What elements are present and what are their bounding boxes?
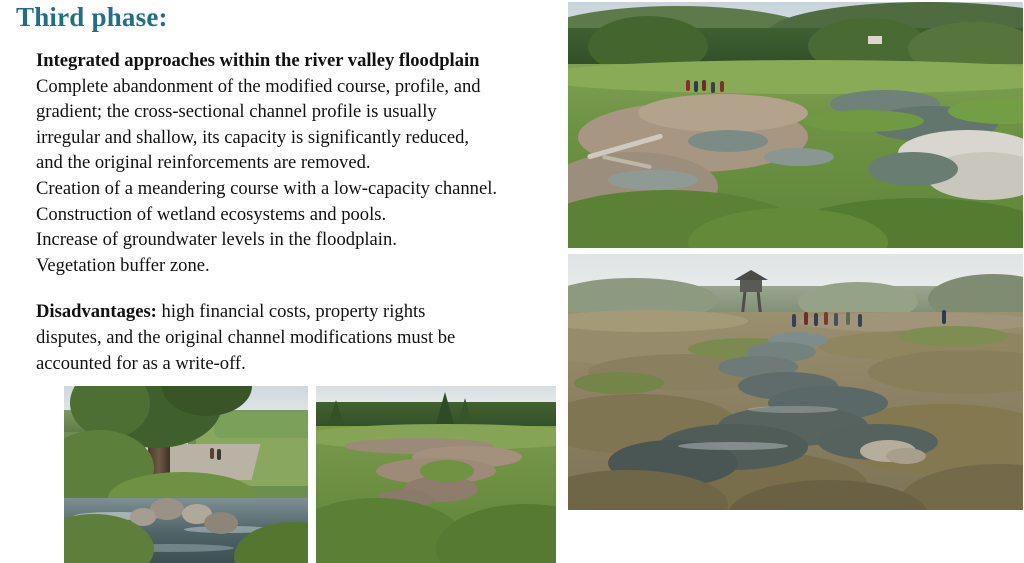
- disadvantages-line-2: disputes, and the original channel modif…: [36, 325, 556, 351]
- water-highlight-1: [678, 442, 788, 450]
- photo-stream-with-tree: [64, 386, 308, 563]
- person-4: [824, 312, 828, 325]
- person-5: [834, 313, 838, 326]
- pedestrian-2: [217, 449, 221, 460]
- person-1: [792, 314, 796, 327]
- pool-1: [688, 130, 768, 152]
- body-line-5: Creation of a meandering course with a l…: [36, 176, 556, 202]
- body-line-7: Increase of groundwater levels in the fl…: [36, 227, 556, 253]
- background-field-strip: [214, 412, 308, 438]
- person-1: [686, 80, 690, 91]
- body-line-6: Construction of wetland ecosystems and p…: [36, 202, 556, 228]
- disadvantages-line-3: accounted for as a write-off.: [36, 351, 556, 377]
- left-content-column: Third phase: Integrated approaches withi…: [0, 0, 560, 563]
- person-3: [702, 80, 706, 91]
- water-highlight-2: [748, 406, 838, 413]
- lead-paragraph: Integrated approaches within the river v…: [36, 48, 556, 74]
- person-5: [720, 81, 724, 92]
- body-line-1: Complete abandonment of the modified cou…: [36, 74, 556, 100]
- person-2: [694, 81, 698, 92]
- green-strip-1: [804, 110, 924, 132]
- person-3: [814, 313, 818, 326]
- pool-3: [608, 170, 698, 190]
- person-6: [846, 312, 850, 325]
- stream-lower: [868, 152, 958, 186]
- boulder-3: [204, 512, 238, 534]
- photo-wetland-tower: [568, 254, 1023, 510]
- conifer-3: [328, 400, 344, 426]
- disadvantages-text-1: high financial costs, property rights: [157, 301, 426, 322]
- page-title: Third phase:: [16, 2, 168, 33]
- body-text-block: Integrated approaches within the river v…: [36, 48, 556, 376]
- person-2: [804, 312, 808, 325]
- pedestrian-1: [210, 448, 214, 459]
- rock-in-channel-2: [886, 448, 926, 464]
- disadvantages-line-1: Disadvantages: high financial costs, pro…: [36, 299, 556, 325]
- conifer-1: [436, 392, 454, 424]
- meadow-highlight: [568, 60, 1023, 94]
- paragraph-spacer: [36, 278, 556, 299]
- green-patch-2: [898, 326, 1008, 346]
- person-7: [858, 314, 862, 327]
- bare-ground-patch-2: [638, 94, 808, 132]
- photo-meadow-meander: [316, 386, 556, 563]
- disadvantages-label: Disadvantages:: [36, 301, 157, 322]
- body-line-2: gradient; the cross-sectional channel pr…: [36, 99, 556, 125]
- person-8: [942, 310, 946, 324]
- tower-cabin: [740, 280, 762, 292]
- body-line-8: Vegetation buffer zone.: [36, 253, 556, 279]
- conifer-2: [458, 398, 472, 424]
- person-4: [711, 82, 715, 93]
- pool-2: [764, 148, 834, 166]
- green-patch-3: [574, 372, 664, 394]
- body-line-3: irregular and shallow, its capacity is s…: [36, 125, 556, 151]
- photo-floodplain-meadow: [568, 2, 1023, 248]
- meander-inner-island: [420, 460, 474, 482]
- body-line-4: and the original reinforcements are remo…: [36, 150, 556, 176]
- distant-building: [868, 36, 882, 44]
